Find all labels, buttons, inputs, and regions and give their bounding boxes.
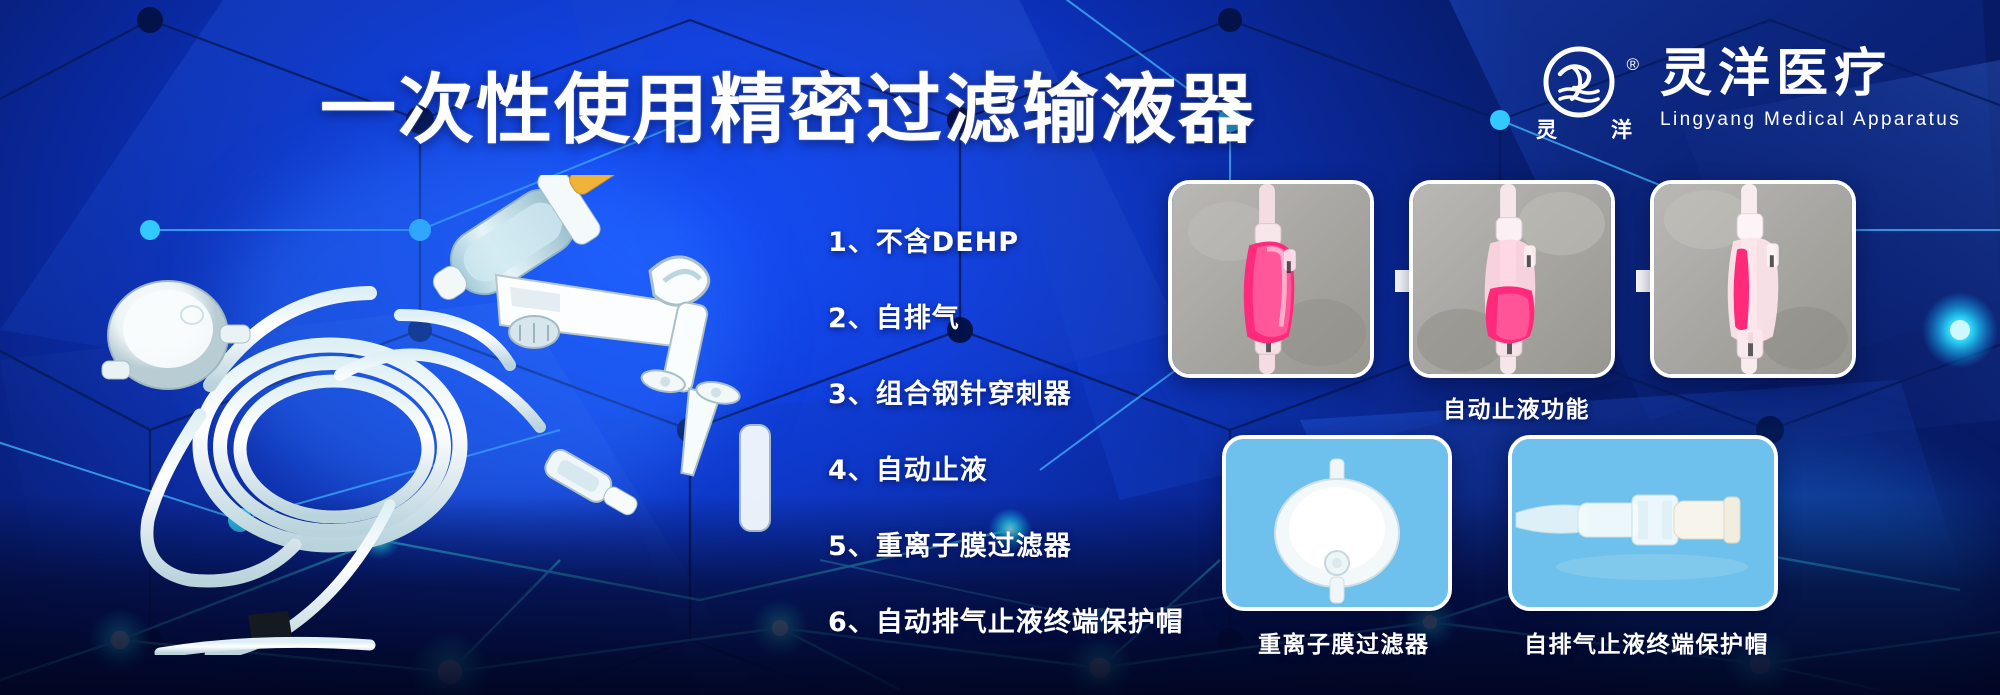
brand-logo: ® 灵 洋 灵洋医疗 Lingyang Medical Apparatus xyxy=(1532,44,1961,146)
page-title: 一次性使用精密过滤输液器 xyxy=(320,48,1256,158)
filter-disc-part xyxy=(102,281,250,389)
feature-item-4: 4、自动止液 xyxy=(828,448,1184,487)
logo-mark-char-right: 洋 xyxy=(1611,114,1632,144)
photo-card-protective-cap xyxy=(1508,435,1778,611)
photo-card-stop-valve-1 xyxy=(1168,180,1374,378)
brand-name-en: Lingyang Medical Apparatus xyxy=(1660,109,1961,131)
stop-valve-photo-3-icon xyxy=(1654,184,1852,374)
feature-item-2: 2、自排气 xyxy=(828,296,1184,335)
infusion-set-illustration-icon xyxy=(40,175,840,655)
feature-item-3: 3、组合钢针穿刺器 xyxy=(828,372,1184,411)
feature-item-1: 1、不含DEHP xyxy=(828,220,1184,259)
feature-item-6: 6、自动排气止液终端保护帽 xyxy=(828,600,1184,639)
caption-stop-valve-function: 自动止液功能 xyxy=(1443,390,1590,424)
photo-card-stop-valve-2 xyxy=(1409,180,1615,378)
product-banner: 一次性使用精密过滤输液器 ® 灵 洋 灵洋医疗 Lingyang Medical… xyxy=(0,0,2000,695)
caption-heavy-ion-filter: 重离子膜过滤器 xyxy=(1258,625,1430,659)
product-image xyxy=(40,175,840,655)
stop-valve-photo-2-icon xyxy=(1413,184,1611,374)
logo-mark-char-left: 灵 xyxy=(1536,114,1557,144)
feature-list: 1、不含DEHP 2、自排气 3、组合钢针穿刺器 4、自动止液 5、重离子膜过滤… xyxy=(828,220,1184,639)
stop-valve-photo-1-icon xyxy=(1172,184,1370,374)
logo-mark-icon: ® 灵 洋 xyxy=(1532,44,1636,146)
feature-item-5: 5、重离子膜过滤器 xyxy=(828,524,1184,563)
caption-protective-cap: 自排气止液终端保护帽 xyxy=(1524,625,1769,659)
photo-card-filter xyxy=(1222,435,1452,611)
logo-mark-subtext: 灵 洋 xyxy=(1532,114,1636,144)
brand-name-cn: 灵洋医疗 xyxy=(1660,48,1961,100)
brand-text-block: 灵洋医疗 Lingyang Medical Apparatus xyxy=(1660,44,1961,131)
protective-cap-photo-icon xyxy=(1512,439,1774,607)
inline-connector-part xyxy=(541,446,643,522)
photo-card-stop-valve-3 xyxy=(1650,180,1856,378)
needle-spike-part xyxy=(640,257,770,531)
registered-trademark-icon: ® xyxy=(1626,56,1639,73)
black-tab-part xyxy=(248,611,292,641)
heavy-ion-filter-photo-icon xyxy=(1226,439,1448,607)
